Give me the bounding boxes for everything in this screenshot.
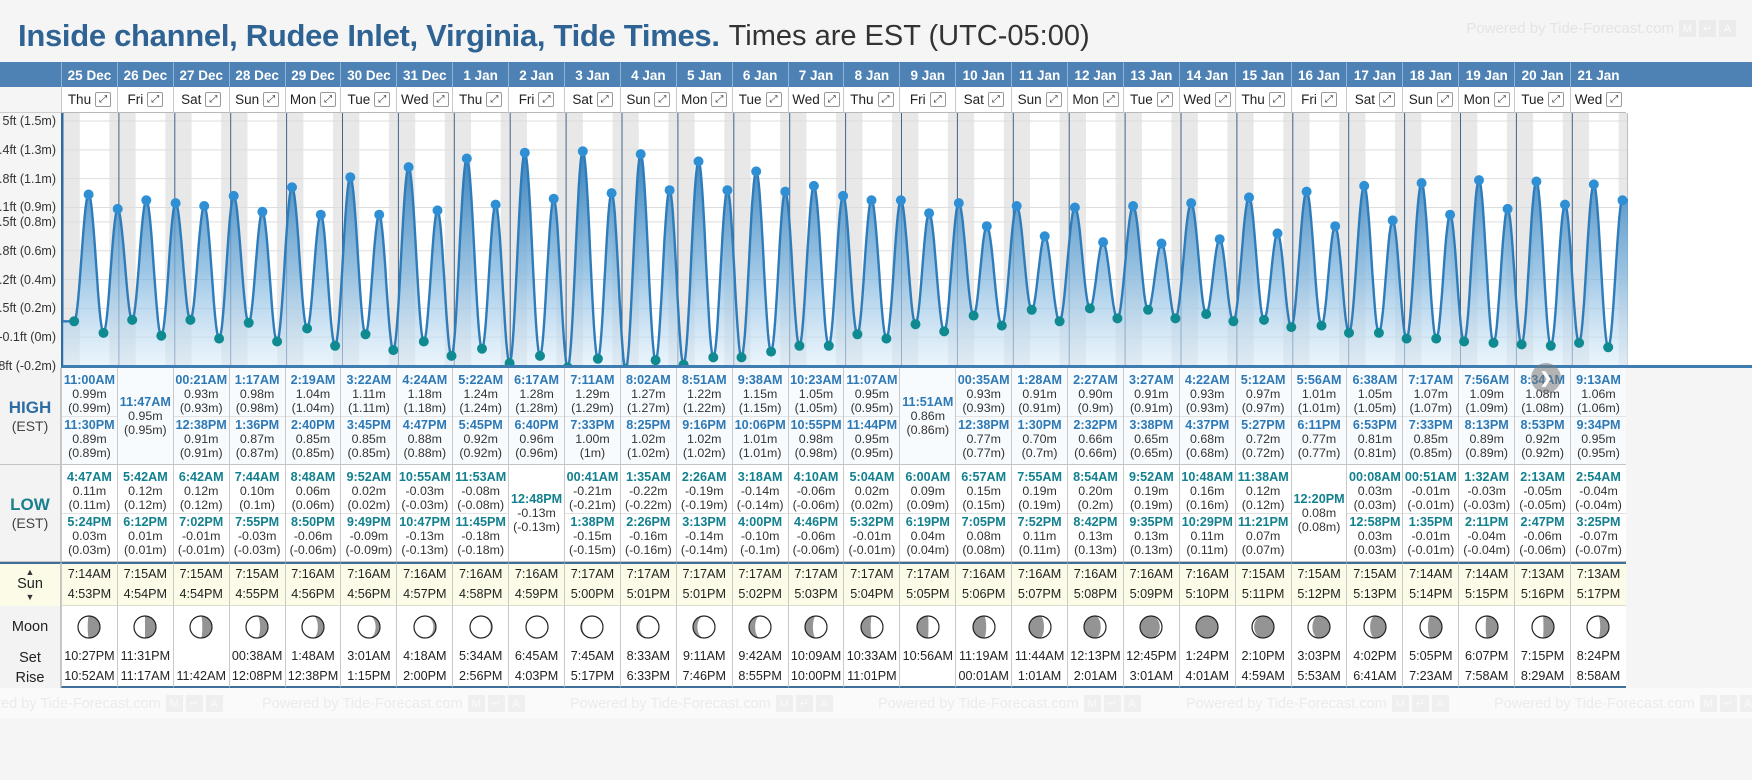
tide-time: 7:05PM: [956, 515, 1011, 529]
low-tide-cell: 11:38AM0.12m(0.12m)11:21PM0.07m(0.07m): [1235, 465, 1291, 562]
low-tide-event: 4:00PM-0.10m(-0.1m): [733, 513, 788, 558]
tide-time: 6:11PM: [1292, 418, 1347, 432]
low-tide-event: 7:55PM-0.03m(-0.03m): [230, 513, 285, 558]
expand-icon[interactable]: ⤢: [95, 92, 111, 107]
tide-height-alt: (0.85m): [286, 446, 341, 460]
sunset-time: 5:01PM: [683, 585, 726, 605]
high-tide-marker: [1589, 179, 1599, 189]
sunset-time: 5:13PM: [1353, 585, 1396, 605]
moonset-time: 8:24PM: [1577, 647, 1620, 667]
tide-height-alt: (0.97m): [1236, 401, 1291, 415]
y-axis-tick: 1.8ft (0.6m): [0, 244, 56, 258]
expand-icon[interactable]: ⤢: [1046, 92, 1062, 107]
tide-height-alt: (0.95m): [118, 423, 173, 437]
high-tide-cell: 1:28AM0.91m(0.91m)1:30PM0.70m(0.7m): [1011, 368, 1067, 465]
date-header-cell[interactable]: 25 Dec: [61, 62, 117, 87]
tide-time: 1:17AM: [230, 373, 285, 387]
footer-watermark-badges: M↵A: [1084, 695, 1141, 712]
moonrise-time: 2:56PM: [459, 667, 502, 687]
expand-icon[interactable]: ⤢: [320, 92, 336, 107]
tide-height: 0.02m: [844, 484, 899, 498]
expand-icon[interactable]: ⤢: [486, 92, 502, 107]
sun-cells: 7:14AM4:53PM7:15AM4:54PM7:15AM4:54PM7:15…: [61, 562, 1752, 606]
tide-chart[interactable]: [61, 113, 1752, 368]
footer-watermark: Powered by Tide-Forecast.comM↵A: [570, 695, 833, 712]
weekday-header-cell: Wed⤢: [788, 87, 844, 113]
tide-height-alt: (0.01m): [118, 543, 173, 557]
tide-time: 6:38AM: [1347, 373, 1402, 387]
date-header-cell[interactable]: 21 Jan: [1570, 62, 1626, 87]
expand-icon[interactable]: ⤢: [205, 92, 221, 107]
low-tide-event: 6:19PM0.04m(0.04m): [900, 513, 955, 558]
expand-icon[interactable]: ⤢: [930, 92, 946, 107]
high-tide-marker: [113, 204, 123, 214]
low-tide-event: 5:24PM0.03m(0.03m): [62, 513, 117, 558]
date-header-cell[interactable]: 11 Jan: [1011, 62, 1067, 87]
expand-icon[interactable]: ⤢: [988, 92, 1004, 107]
moonset-time: 10:33AM: [847, 647, 897, 667]
tide-time: 8:53PM: [1515, 418, 1570, 432]
expand-icon[interactable]: ⤢: [374, 92, 390, 107]
low-tide-cell: 1:35AM-0.22m(-0.22m)2:26PM-0.16m(-0.16m): [620, 465, 676, 562]
tide-height: 0.16m: [1180, 484, 1235, 498]
tide-height: 0.85m: [286, 432, 341, 446]
expand-icon[interactable]: ⤢: [1157, 92, 1173, 107]
date-header-cell[interactable]: 5 Jan: [676, 62, 732, 87]
weekday-text: Fri: [1301, 92, 1317, 107]
sunset-time: 4:55PM: [235, 585, 278, 605]
moon-cell: [396, 606, 452, 648]
date-header-cell[interactable]: 20 Jan: [1514, 62, 1570, 87]
footer-badge-icon: A: [1432, 695, 1449, 712]
tide-height-alt: (0.19m): [1124, 498, 1179, 512]
tide-height: 0.65m: [1124, 432, 1179, 446]
tide-height: 1.24m: [453, 387, 508, 401]
low-tide-event: 5:32PM-0.01m(-0.01m): [844, 513, 899, 558]
tide-time: 6:42AM: [174, 470, 229, 484]
sun-label: ▲ Sun ▼: [0, 562, 61, 606]
tide-time: 9:38AM: [733, 373, 788, 387]
low-tide-marker: [593, 354, 603, 364]
high-tide-marker: [1618, 195, 1628, 205]
tide-height: 1.28m: [509, 387, 564, 401]
moon-setrise-cell: 3:01AM1:15PM: [340, 648, 396, 688]
footer-badge-icon: A: [508, 695, 525, 712]
sun-cell: 7:16AM4:58PM: [452, 562, 508, 606]
tide-time: 1:38PM: [565, 515, 620, 529]
footer-watermark-text: Powered by Tide-Forecast.com: [878, 696, 1079, 712]
footer-watermark-badges: M↵A: [468, 695, 525, 712]
high-tide-marker: [694, 156, 704, 166]
tide-height: 0.11m: [1180, 529, 1235, 543]
tide-time: 11:51AM: [900, 395, 955, 409]
high-tide-event: 11:44PM0.95m(0.95m): [844, 416, 899, 461]
low-tide-marker: [1027, 305, 1037, 315]
moon-phase-icon: [244, 614, 270, 640]
date-header-row: 25 Dec26 Dec27 Dec28 Dec29 Dec30 Dec31 D…: [0, 62, 1752, 87]
low-tide-marker: [997, 321, 1007, 331]
date-header-cell[interactable]: 7 Jan: [788, 62, 844, 87]
moon-setrise-cell: 5:34AM2:56PM: [452, 648, 508, 688]
tide-height: -0.05m: [1515, 484, 1570, 498]
tide-height-alt: (0.03m): [1347, 543, 1402, 557]
sunrise-time: 7:15AM: [124, 565, 167, 585]
weekday-text: Wed: [1575, 92, 1603, 107]
tide-height-alt: (0.81m): [1347, 446, 1402, 460]
tide-height-alt: (0.91m): [1012, 401, 1067, 415]
weekday-header-cell: Sat⤢: [564, 87, 620, 113]
low-tide-marker: [969, 311, 979, 321]
tide-height: 0.10m: [230, 484, 285, 498]
tide-height-alt: (0.77m): [1292, 446, 1347, 460]
tide-height-alt: (0.87m): [230, 446, 285, 460]
sun-cell: 7:16AM5:10PM: [1179, 562, 1235, 606]
sun-cell: 7:15AM5:11PM: [1235, 562, 1291, 606]
date-header-cell[interactable]: 30 Dec: [340, 62, 396, 87]
moon-cell: [452, 606, 508, 648]
sun-cell: 7:15AM4:55PM: [229, 562, 285, 606]
high-tide-cell: 11:51AM0.86m(0.86m): [899, 368, 955, 465]
weekday-header-cell: Sun⤢: [229, 87, 285, 113]
low-tide-event: 7:52PM0.11m(0.11m): [1012, 513, 1067, 558]
sun-cell: 7:13AM5:16PM: [1514, 562, 1570, 606]
moonset-time: 6:45AM: [515, 647, 558, 667]
tide-height-alt: (0.12m): [118, 498, 173, 512]
tide-height: -0.18m: [453, 529, 508, 543]
weekday-text: Fri: [127, 92, 143, 107]
tide-height-alt: (0.96m): [509, 446, 564, 460]
sun-cell: 7:15AM4:54PM: [173, 562, 229, 606]
low-tide-marker: [737, 352, 747, 362]
high-tide-event: 12:38PM0.91m(0.91m): [174, 416, 229, 461]
high-tide-event: 2:32PM0.66m(0.66m): [1068, 416, 1123, 461]
high-tide-cell: 1:17AM0.98m(0.98m)1:36PM0.87m(0.87m): [229, 368, 285, 465]
tide-time: 2:54AM: [1571, 470, 1626, 484]
moon-cell: [1458, 606, 1514, 648]
tide-height-alt: (-0.14m): [733, 498, 788, 512]
high-tide-event: 5:12AM0.97m(0.97m): [1236, 372, 1291, 416]
expand-icon[interactable]: ⤢: [1269, 92, 1285, 107]
tide-height: -0.01m: [1403, 484, 1458, 498]
sunrise-time: 7:16AM: [1186, 565, 1229, 585]
expand-icon[interactable]: ⤢: [1548, 92, 1564, 107]
tide-time: 8:54AM: [1068, 470, 1123, 484]
tide-height: 0.99m: [62, 387, 117, 401]
date-header-cell[interactable]: 9 Jan: [899, 62, 955, 87]
moon-label: Moon: [0, 606, 61, 648]
low-tide-cell: 12:48PM-0.13m(-0.13m): [508, 465, 564, 562]
tide-time: 00:35AM: [956, 373, 1011, 387]
moon-cell: [1067, 606, 1123, 648]
low-tide-event: 3:25PM-0.07m(-0.07m): [1571, 513, 1626, 558]
low-tide-label: LOW (EST): [0, 465, 61, 562]
high-tide-cell: 4:22AM0.93m(0.93m)4:37PM0.68m(0.68m): [1179, 368, 1235, 465]
tide-height-alt: (0.93m): [1180, 401, 1235, 415]
tide-height: 0.06m: [286, 484, 341, 498]
weekday-text: Thu: [850, 92, 873, 107]
tide-height-alt: (0.88m): [397, 446, 452, 460]
date-header-cell[interactable]: 12 Jan: [1067, 62, 1123, 87]
weekday-header-cell: Sun⤢: [1402, 87, 1458, 113]
high-tide-marker: [199, 201, 209, 211]
weekday-header-spacer: [0, 87, 61, 113]
date-header-cell[interactable]: 6 Jan: [732, 62, 788, 87]
tide-height: 0.08m: [1292, 506, 1347, 520]
moonrise-time: 00:01AM: [958, 667, 1008, 687]
moonrise-time: 11:42AM: [176, 667, 225, 687]
moon-cell: [1123, 606, 1179, 648]
high-tide-cells: 11:00AM0.99m(0.99m)11:30PM0.89m(0.89m)11…: [61, 368, 1752, 465]
date-header-cell[interactable]: 27 Dec: [173, 62, 229, 87]
footer-badge-icon: ↵: [1412, 695, 1429, 712]
high-tide-marker: [780, 187, 790, 197]
weekday-header-cell: Sun⤢: [620, 87, 676, 113]
expand-icon[interactable]: ⤢: [711, 92, 727, 107]
high-tide-event: 8:13PM0.89m(0.89m): [1459, 416, 1514, 461]
date-header-cell[interactable]: 4 Jan: [620, 62, 676, 87]
tide-time: 1:35PM: [1403, 515, 1458, 529]
expand-icon[interactable]: ⤢: [824, 92, 840, 107]
high-tide-tz-text: (EST): [12, 418, 49, 434]
expand-icon[interactable]: ⤢: [538, 92, 554, 107]
tide-height-alt: (0.7m): [1012, 446, 1067, 460]
scroll-right-button[interactable]: ❯: [1531, 363, 1561, 393]
weekday-text: Wed: [1184, 92, 1212, 107]
tide-height-alt: (0.13m): [1068, 543, 1123, 557]
tide-height: -0.22m: [621, 484, 676, 498]
sunrise-time: 7:16AM: [515, 565, 558, 585]
low-tide-event: 6:12PM0.01m(0.01m): [118, 513, 173, 558]
low-tide-row: LOW (EST) 4:47AM0.11m(0.11m)5:24PM0.03m(…: [0, 465, 1752, 562]
low-tide-event: 6:57AM0.15m(0.15m): [956, 469, 1011, 513]
low-tide-marker: [1228, 316, 1238, 326]
tide-height: 0.93m: [174, 387, 229, 401]
tide-time: 4:24AM: [397, 373, 452, 387]
high-tide-event: 11:47AM0.95m(0.95m): [118, 394, 173, 438]
tide-height-alt: (1.24m): [453, 401, 508, 415]
moonset-time: 5:05PM: [1409, 647, 1452, 667]
date-header-cell[interactable]: 2 Jan: [508, 62, 564, 87]
tide-height: 0.11m: [1012, 529, 1067, 543]
tide-height: 1.05m: [789, 387, 844, 401]
low-tide-event: 3:13PM-0.14m(-0.14m): [677, 513, 732, 558]
date-header-cell[interactable]: 29 Dec: [285, 62, 341, 87]
tide-height: -0.03m: [230, 529, 285, 543]
high-tide-marker: [1128, 201, 1138, 211]
tide-height: 1.01m: [1292, 387, 1347, 401]
low-tide-cells: 4:47AM0.11m(0.11m)5:24PM0.03m(0.03m)5:42…: [61, 465, 1752, 562]
tide-height: 1.00m: [565, 432, 620, 446]
tide-height: 0.77m: [956, 432, 1011, 446]
low-tide-marker: [214, 334, 224, 344]
low-tide-marker: [361, 329, 371, 339]
low-tide-event: 1:32AM-0.03m(-0.03m): [1459, 469, 1514, 513]
tide-height: 1.15m: [733, 387, 788, 401]
expand-icon[interactable]: ⤢: [263, 92, 279, 107]
expand-icon[interactable]: ⤢: [654, 92, 670, 107]
tide-height-alt: (-0.13m): [509, 520, 564, 534]
moon-phase-icon: [971, 614, 997, 640]
y-axis-tick: -0.1ft (0m): [0, 330, 56, 344]
low-tide-event: 8:42PM0.13m(0.13m): [1068, 513, 1123, 558]
moon-cell: [620, 606, 676, 648]
tide-height-alt: (-0.01m): [1403, 543, 1458, 557]
low-tide-event: 9:49PM-0.09m(-0.09m): [341, 513, 396, 558]
tide-height-alt: (0.1m): [230, 498, 285, 512]
high-tide-marker: [374, 210, 384, 220]
low-tide-cell: 1:32AM-0.03m(-0.03m)2:11PM-0.04m(-0.04m): [1458, 465, 1514, 562]
tide-height: 0.86m: [900, 409, 955, 423]
weekday-text: Tue: [1130, 92, 1153, 107]
date-header-cell[interactable]: 14 Jan: [1179, 62, 1235, 87]
low-tide-marker: [535, 351, 545, 361]
high-tide-event: 11:07AM0.95m(0.95m): [844, 372, 899, 416]
sunrise-time: 7:15AM: [1241, 565, 1284, 585]
moon-phase-icon: [1474, 614, 1500, 640]
tide-time: 12:38PM: [956, 418, 1011, 432]
date-header-cell[interactable]: 28 Dec: [229, 62, 285, 87]
moon-phase-icon: [1362, 614, 1388, 640]
low-tide-marker: [1055, 316, 1065, 326]
tide-height: 0.68m: [1180, 432, 1235, 446]
date-header-cell[interactable]: 17 Jan: [1346, 62, 1402, 87]
y-axis-tick: 1.2ft (0.4m): [0, 273, 56, 287]
y-axis-tick: -0.8ft (-0.2m): [0, 359, 56, 373]
low-tide-event: 2:13AM-0.05m(-0.05m): [1515, 469, 1570, 513]
expand-icon[interactable]: ⤢: [766, 92, 782, 107]
date-header-cell[interactable]: 31 Dec: [396, 62, 452, 87]
tide-time: 6:53PM: [1347, 418, 1402, 432]
moon-setrise-cell: 12:45PM3:01AM: [1123, 648, 1179, 688]
date-header-cell[interactable]: 26 Dec: [117, 62, 173, 87]
moon-setrise-cell: 9:11AM7:46PM: [676, 648, 732, 688]
low-tide-marker: [330, 341, 340, 351]
moonrise-time: 1:01AM: [1018, 667, 1061, 687]
low-tide-cell: 10:48AM0.16m(0.16m)10:29PM0.11m(0.11m): [1179, 465, 1235, 562]
tide-time: 12:58PM: [1347, 515, 1402, 529]
weekday-text: Sat: [1355, 92, 1375, 107]
low-tide-cell: 00:08AM0.03m(0.03m)12:58PM0.03m(0.03m): [1346, 465, 1402, 562]
footer-watermark-text: Powered by Tide-Forecast.com: [0, 696, 161, 712]
high-tide-marker: [1417, 178, 1427, 188]
high-tide-cell: 11:00AM0.99m(0.99m)11:30PM0.89m(0.89m): [61, 368, 117, 465]
moonset-time: 2:10PM: [1241, 647, 1284, 667]
low-tide-event: 1:35AM-0.22m(-0.22m): [621, 469, 676, 513]
date-header-cell[interactable]: 16 Jan: [1291, 62, 1347, 87]
high-tide-event: 1:17AM0.98m(0.98m): [230, 372, 285, 416]
date-header-cell[interactable]: 13 Jan: [1123, 62, 1179, 87]
high-tide-marker: [462, 154, 472, 164]
tide-height-alt: (1.05m): [1347, 401, 1402, 415]
date-header-cell[interactable]: 3 Jan: [564, 62, 620, 87]
tide-height: -0.04m: [1459, 529, 1514, 543]
high-tide-cell: 6:38AM1.05m(1.05m)6:53PM0.81m(0.81m): [1346, 368, 1402, 465]
date-header-cell[interactable]: 19 Jan: [1458, 62, 1514, 87]
low-tide-marker: [419, 337, 429, 347]
moon-phase-icon: [356, 614, 382, 640]
moonset-time: 9:11AM: [683, 647, 725, 667]
sun-cell: 7:14AM5:15PM: [1458, 562, 1514, 606]
tide-height: 0.93m: [1180, 387, 1235, 401]
sunrise-time: 7:16AM: [962, 565, 1005, 585]
tide-time: 4:47PM: [397, 418, 452, 432]
high-tide-cell: 4:24AM1.18m(1.18m)4:47PM0.88m(0.88m): [396, 368, 452, 465]
tide-height-alt: (-0.15m): [565, 543, 620, 557]
badge-m-icon: M: [1679, 20, 1696, 37]
moonset-time: [199, 647, 203, 667]
high-tide-marker: [896, 195, 906, 205]
low-tide-event: 6:00AM0.09m(0.09m): [900, 469, 955, 513]
high-tide-event: 7:11AM1.29m(1.29m): [565, 372, 620, 416]
tide-height-alt: (-0.05m): [1515, 498, 1570, 512]
tide-height-alt: (0.12m): [1236, 498, 1291, 512]
tide-height-alt: (0.9m): [1068, 401, 1123, 415]
high-tide-event: 10:06PM1.01m(1.01m): [733, 416, 788, 461]
expand-icon[interactable]: ⤢: [147, 92, 163, 107]
high-tide-marker: [838, 191, 848, 201]
expand-icon[interactable]: ⤢: [1321, 92, 1337, 107]
low-tide-cell: 4:10AM-0.06m(-0.06m)4:46PM-0.06m(-0.06m): [788, 465, 844, 562]
footer-badge-icon: A: [206, 695, 223, 712]
expand-icon[interactable]: ⤢: [1437, 92, 1453, 107]
low-tide-marker: [505, 358, 515, 368]
moonrise-time: 4:03PM: [515, 667, 558, 687]
date-header-cell[interactable]: 18 Jan: [1402, 62, 1458, 87]
tide-height: 1.18m: [397, 387, 452, 401]
weekday-header-cell: Fri⤢: [117, 87, 173, 113]
tide-height: 0.93m: [956, 387, 1011, 401]
high-tide-cell: 9:13AM1.06m(1.06m)9:34PM0.95m(0.95m): [1570, 368, 1626, 465]
date-header-cell[interactable]: 15 Jan: [1235, 62, 1291, 87]
high-tide-marker: [171, 198, 181, 208]
expand-icon[interactable]: ⤢: [1494, 92, 1510, 107]
tide-height: -0.21m: [565, 484, 620, 498]
high-tide-event: 5:56AM1.01m(1.01m): [1292, 372, 1347, 416]
low-tide-event: 2:26PM-0.16m(-0.16m): [621, 513, 676, 558]
moon-setrise-cell: 10:27PM10:52AM: [61, 648, 117, 688]
tide-time: 11:30PM: [62, 418, 117, 432]
date-header-cell[interactable]: 8 Jan: [843, 62, 899, 87]
weekday-header-cell: Wed⤢: [396, 87, 452, 113]
tide-height: 0.19m: [1124, 484, 1179, 498]
tide-height: -0.14m: [677, 529, 732, 543]
high-tide-marker: [1040, 231, 1050, 241]
date-header-cell[interactable]: 10 Jan: [955, 62, 1011, 87]
tide-height: 0.01m: [118, 529, 173, 543]
weekday-text: Wed: [792, 92, 820, 107]
weekday-header-cell: Mon⤢: [285, 87, 341, 113]
date-header-cell[interactable]: 1 Jan: [452, 62, 508, 87]
expand-icon[interactable]: ⤢: [1215, 92, 1231, 107]
expand-icon[interactable]: ⤢: [597, 92, 613, 107]
high-tide-marker: [636, 149, 646, 159]
tide-height-alt: (0.77m): [956, 446, 1011, 460]
expand-icon[interactable]: ⤢: [1103, 92, 1119, 107]
low-tide-label-text: LOW: [10, 495, 50, 515]
tide-time: 2:40PM: [286, 418, 341, 432]
footer-badge-icon: A: [816, 695, 833, 712]
expand-icon[interactable]: ⤢: [433, 92, 449, 107]
footer-badge-icon: ↵: [186, 695, 203, 712]
low-tide-cell: 12:20PM0.08m(0.08m): [1291, 465, 1347, 562]
expand-icon[interactable]: ⤢: [1379, 92, 1395, 107]
expand-icon[interactable]: ⤢: [1606, 92, 1622, 107]
expand-icon[interactable]: ⤢: [878, 92, 894, 107]
low-tide-marker: [1286, 322, 1296, 332]
sunrise-time: 7:16AM: [291, 565, 334, 585]
tide-time: 10:23AM: [789, 373, 844, 387]
tide-time: 4:00PM: [733, 515, 788, 529]
